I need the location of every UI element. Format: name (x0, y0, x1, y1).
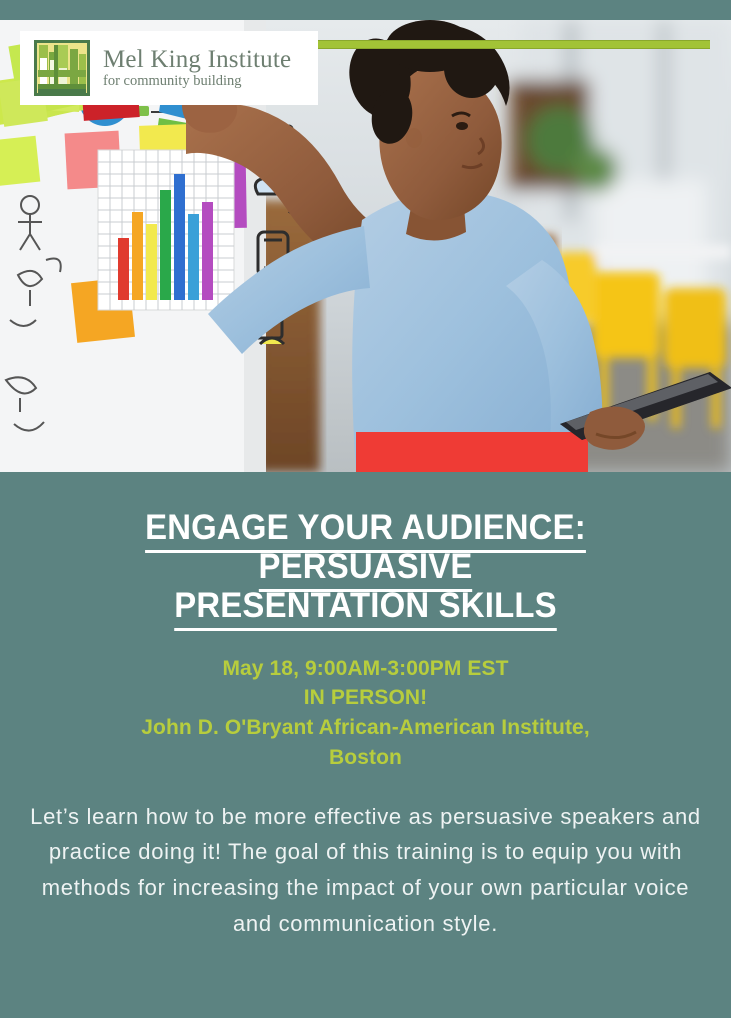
event-title: ENGAGE YOUR AUDIENCE: PERSUASIVE PRESENT… (22, 472, 709, 626)
brand-subtitle: for community building (103, 74, 291, 89)
brand-title: Mel King Institute (103, 47, 291, 72)
event-details: May 18, 9:00AM-3:00PM EST IN PERSON! Joh… (0, 626, 731, 773)
header-accent-bar (318, 40, 710, 49)
cityscape-buildings-icon (34, 40, 90, 96)
event-title-line-2: PRESENTATION SKILLS (174, 586, 557, 631)
event-venue: John D. O'Bryant African-American Instit… (60, 713, 671, 743)
event-city: Boston (60, 743, 671, 773)
brand-logo-box: Mel King Institute for community buildin… (20, 31, 318, 105)
event-description: Let’s learn how to be more effective as … (0, 773, 731, 942)
event-content: ENGAGE YOUR AUDIENCE: PERSUASIVE PRESENT… (0, 472, 731, 941)
event-datetime: May 18, 9:00AM-3:00PM EST (60, 654, 671, 684)
bottom-white-strip (0, 1018, 731, 1024)
event-format: IN PERSON! (60, 683, 671, 713)
event-title-line-1: ENGAGE YOUR AUDIENCE: PERSUASIVE (145, 508, 586, 592)
flyer-page: Mel King Institute for community buildin… (0, 0, 731, 1024)
